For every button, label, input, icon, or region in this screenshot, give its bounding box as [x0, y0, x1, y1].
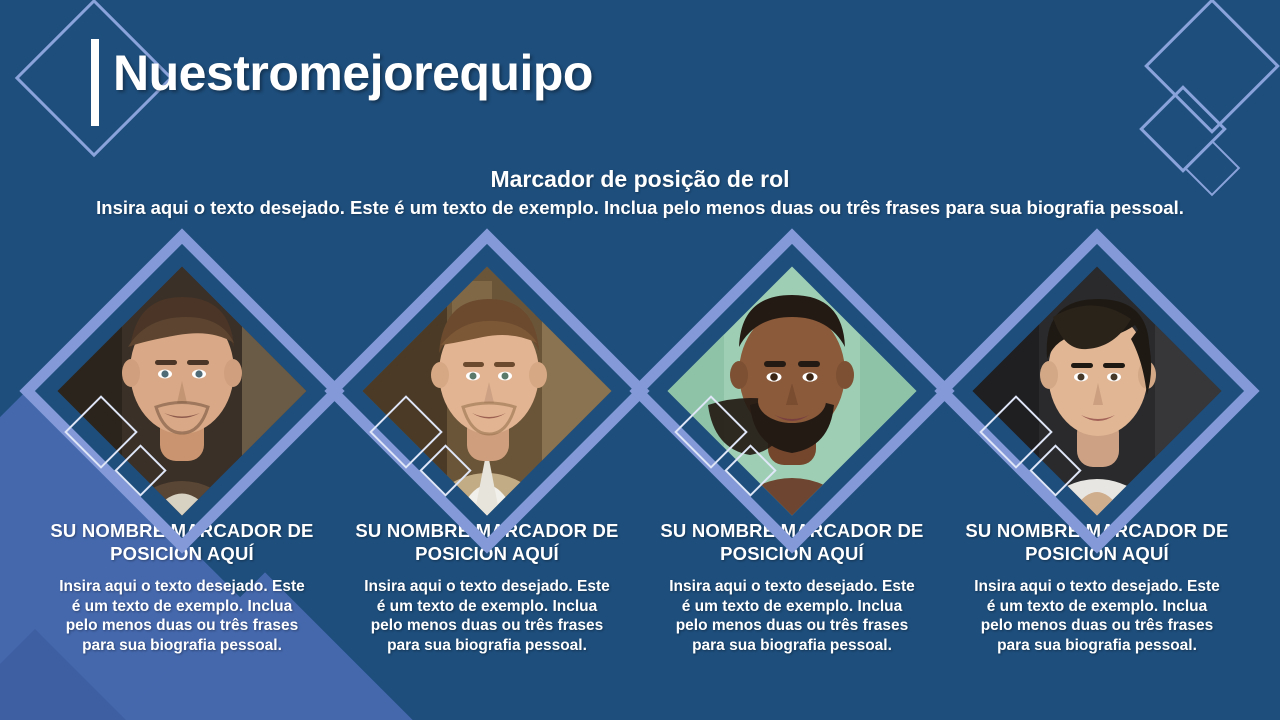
page-title: Nuestromejorequipo: [113, 44, 593, 102]
intro-body-text: Insira aqui o texto desejado. Este é um …: [90, 196, 1190, 220]
member-bio: Insira aqui o texto desejado. Este é um …: [972, 577, 1222, 656]
intro-role-text: Marcador de posição de rol: [90, 165, 1190, 194]
top-right-diamond-outline-icon-3: [1184, 140, 1241, 197]
member-photo-frame: [372, 276, 602, 506]
team-member-list: SU NOMBRE MARCADOR DE POSICIÓN AQUÍ Insi…: [0, 268, 1280, 720]
team-member-card[interactable]: SU NOMBRE MARCADOR DE POSICIÓN AQUÍ Insi…: [32, 268, 332, 720]
intro-block: Marcador de posição de rol Insira aqui o…: [90, 165, 1190, 220]
member-bio: Insira aqui o texto desejado. Este é um …: [667, 577, 917, 656]
top-right-diamond-outline-icon-1: [1144, 0, 1280, 134]
member-bio: Insira aqui o texto desejado. Este é um …: [57, 577, 307, 656]
member-photo-ring: [934, 228, 1259, 553]
member-bio: Insira aqui o texto desejado. Este é um …: [362, 577, 612, 656]
team-slide: Nuestromejorequipo Marcador de posição d…: [0, 0, 1280, 720]
member-photo-ring: [324, 228, 649, 553]
top-right-diamond-outline-icon-2: [1139, 85, 1227, 173]
member-photo-ring: [629, 228, 954, 553]
member-photo-frame: [677, 276, 907, 506]
member-photo-frame: [982, 276, 1212, 506]
team-member-card[interactable]: SU NOMBRE MARCADOR DE POSICIÓN AQUÍ Insi…: [337, 268, 637, 720]
member-photo-ring: [19, 228, 344, 553]
team-member-card[interactable]: SU NOMBRE MARCADOR DE POSICIÓN AQUÍ Insi…: [642, 268, 942, 720]
title-accent-bar: [91, 39, 99, 126]
team-member-card[interactable]: SU NOMBRE MARCADOR DE POSICIÓN AQUÍ Insi…: [947, 268, 1247, 720]
member-photo-frame: [67, 276, 297, 506]
